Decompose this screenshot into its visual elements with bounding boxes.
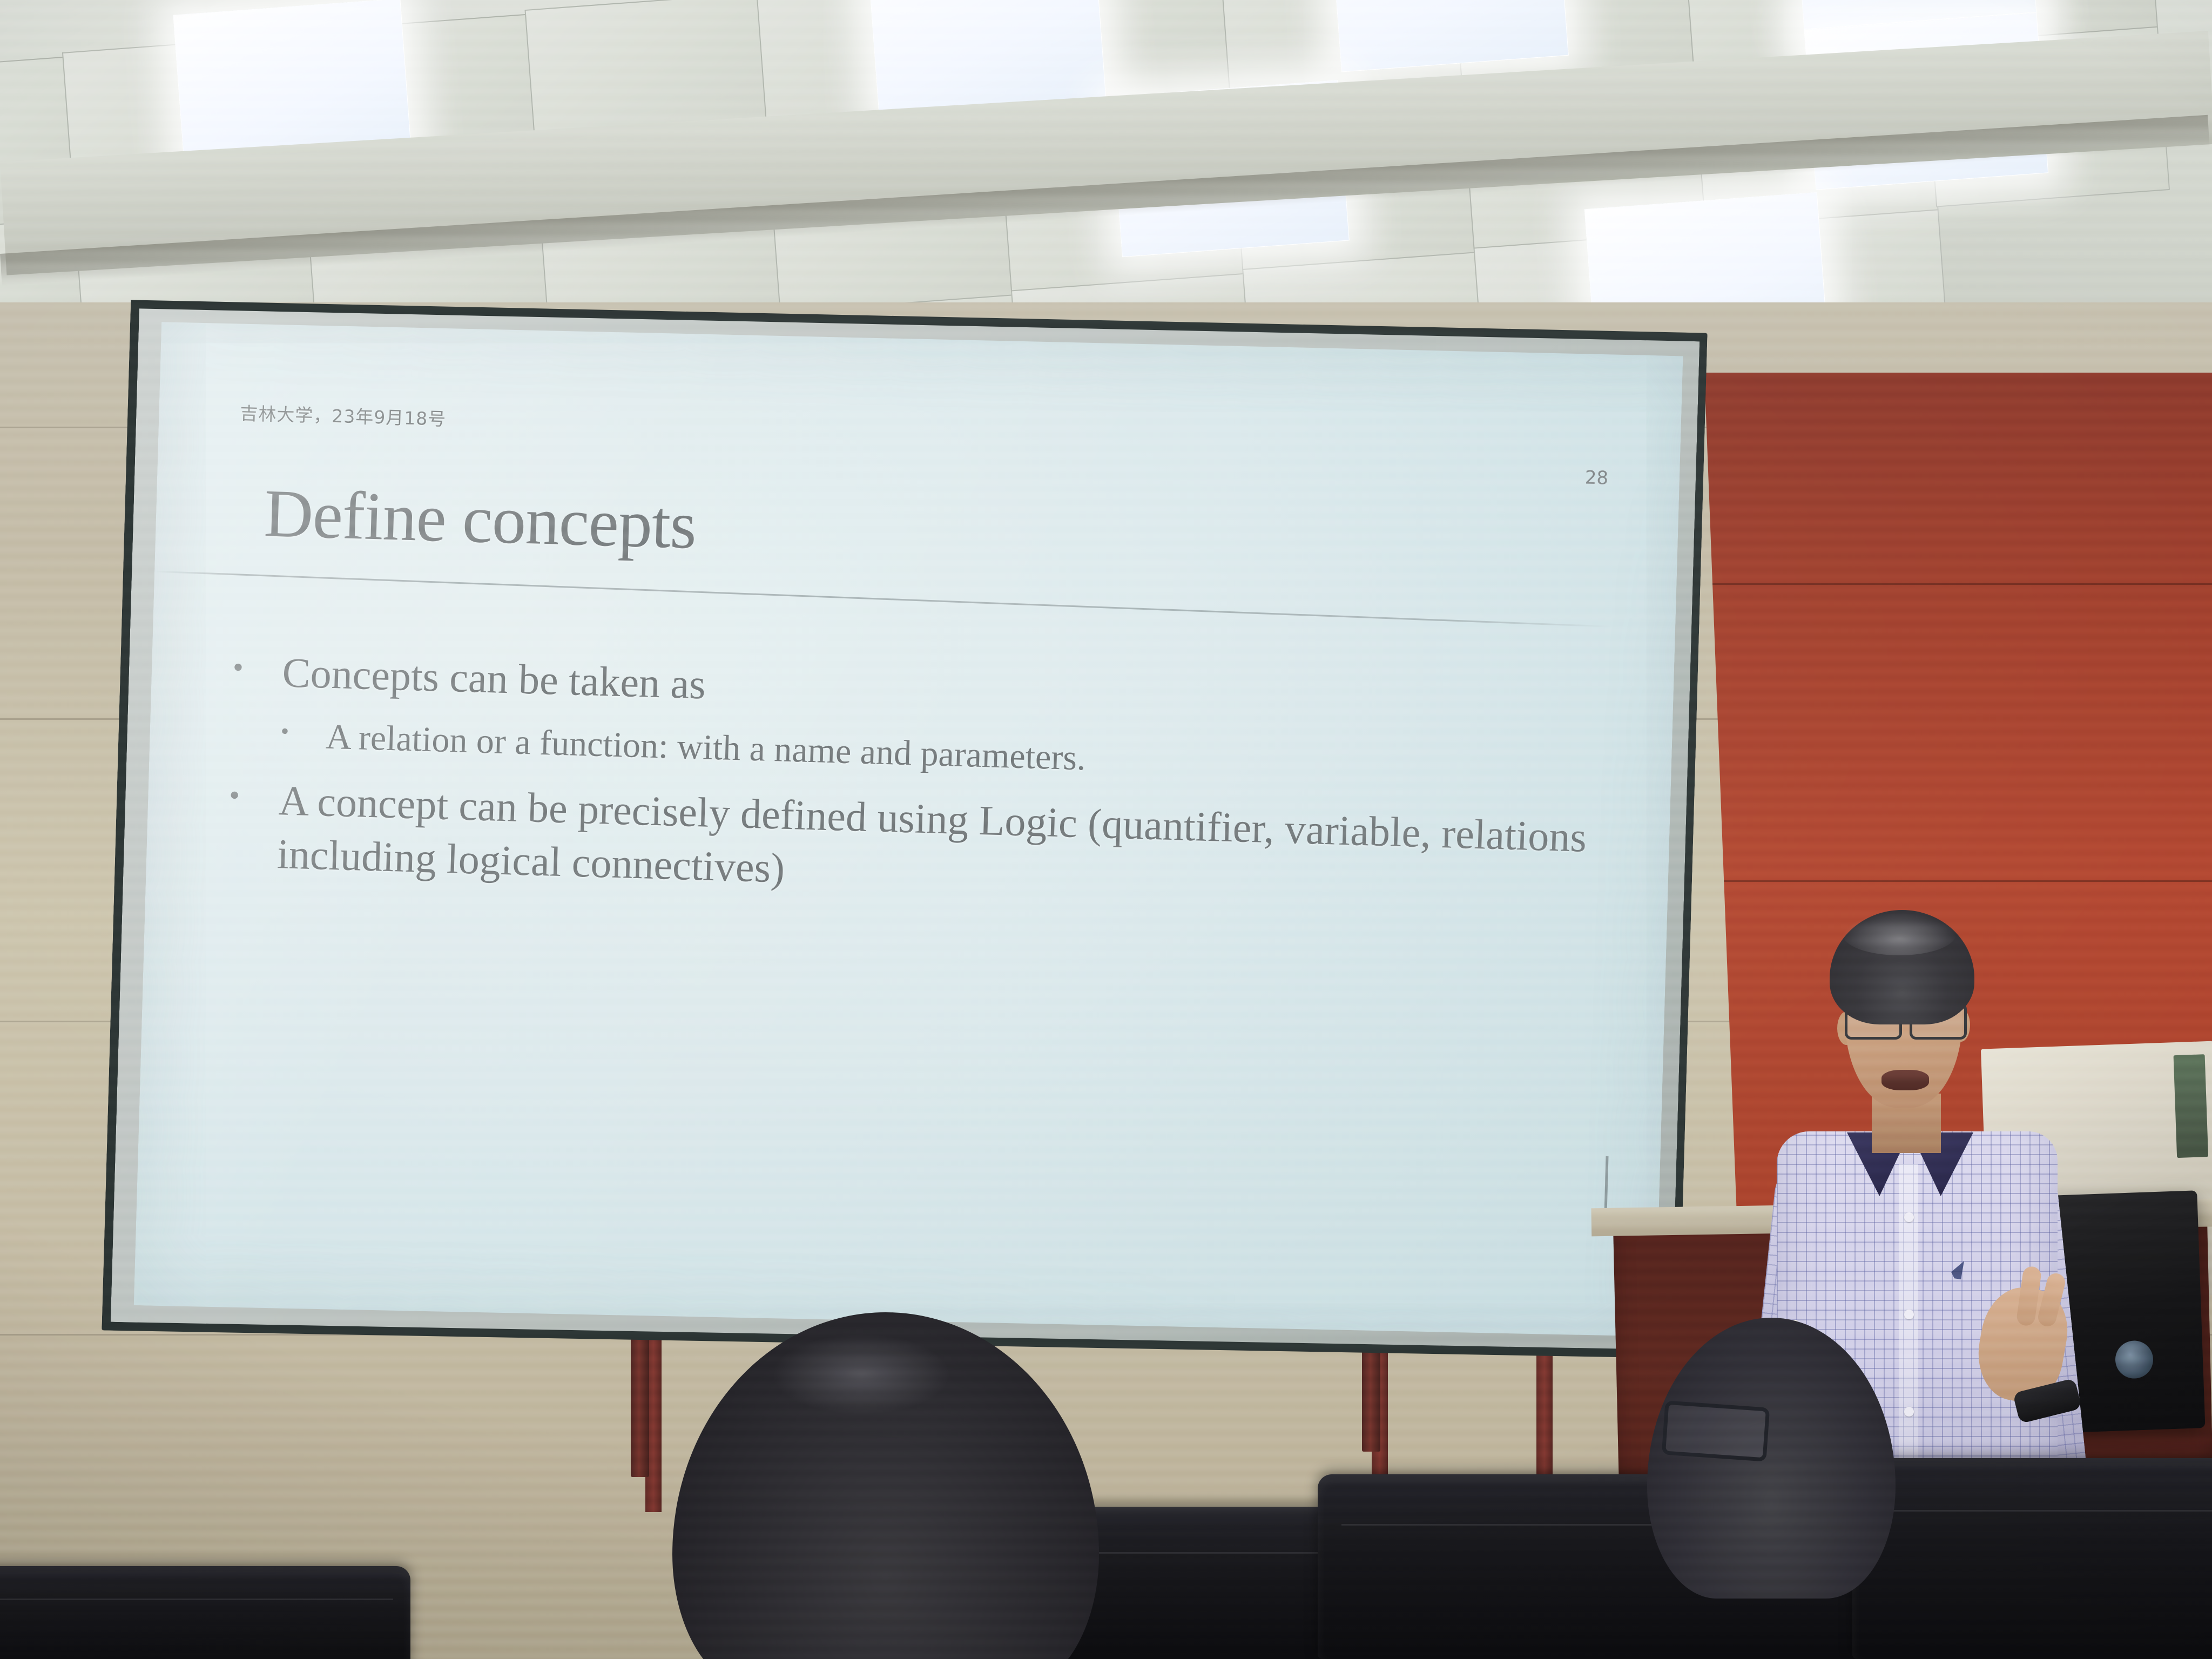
presenter-mouth bbox=[1881, 1070, 1929, 1090]
screen-support-leg bbox=[631, 1331, 649, 1477]
slide: 吉林大学，23年9月18号 28 Define concepts • Conce… bbox=[134, 313, 1683, 1348]
slide-page-number: 28 bbox=[1584, 467, 1608, 489]
bullet-marker-icon: • bbox=[232, 645, 283, 684]
bullet-text: A relation or a function: with a name an… bbox=[325, 714, 1086, 781]
slide-bullet-list: • Concepts can be taken as • A relation … bbox=[226, 645, 1625, 933]
bullet-marker-icon: • bbox=[280, 713, 327, 745]
presenter-hair-highlight bbox=[1843, 913, 1956, 955]
audience-chair bbox=[0, 1566, 410, 1659]
slide-title: Define concepts bbox=[263, 478, 697, 562]
audience-head-highlight bbox=[772, 1334, 950, 1415]
ceiling-light-panel bbox=[867, 0, 1107, 115]
bullet-text: Concepts can be taken as bbox=[281, 646, 706, 711]
monitor-logo-icon bbox=[2115, 1340, 2154, 1379]
audience-glasses-icon bbox=[1662, 1400, 1770, 1461]
projection-screen[interactable]: 吉林大学，23年9月18号 28 Define concepts • Conce… bbox=[102, 288, 1707, 1375]
ceiling-light-panel bbox=[1584, 192, 1828, 302]
list-item: • A concept can be precisely defined usi… bbox=[227, 773, 1622, 918]
audience-chair bbox=[1852, 1458, 2212, 1659]
screen-surface[interactable]: 吉林大学，23年9月18号 28 Define concepts • Conce… bbox=[134, 313, 1683, 1348]
room: 吉林大学，23年9月18号 28 Define concepts • Conce… bbox=[0, 0, 2212, 1659]
bullet-marker-icon: • bbox=[229, 773, 280, 812]
bullet-text: A concept can be precisely defined using… bbox=[276, 774, 1622, 919]
title-divider-rule bbox=[154, 571, 1611, 628]
slide-header-text: 吉林大学，23年9月18号 bbox=[240, 399, 447, 431]
tower-vent bbox=[2174, 1054, 2209, 1158]
lecture-hall-photo: 吉林大学，23年9月18号 28 Define concepts • Conce… bbox=[0, 0, 2212, 1659]
